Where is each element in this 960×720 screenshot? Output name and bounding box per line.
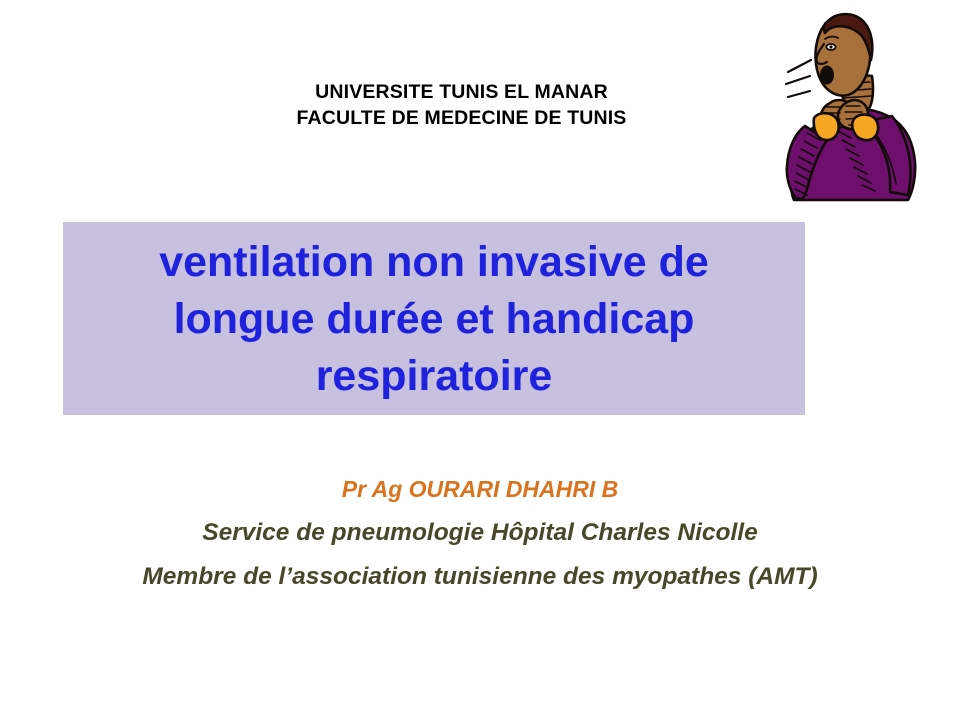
presenter-membership: Membre de l’association tunisienne des m…: [0, 565, 960, 590]
person-clutching-throat-icon: [780, 0, 960, 215]
title-line-3: respiratoire: [316, 348, 553, 405]
title-banner: ventilation non invasive de longue durée…: [63, 222, 805, 415]
author-block: Pr Ag OURARI DHAHRI B Service de pneumol…: [0, 478, 960, 589]
title-line-2: longue durée et handicap: [174, 291, 695, 348]
presenter-name: Pr Ag OURARI DHAHRI B: [0, 478, 960, 501]
presenter-affiliation: Service de pneumologie Hôpital Charles N…: [0, 521, 960, 546]
title-line-1: ventilation non invasive de: [159, 234, 709, 291]
presentation-slide: UNIVERSITE TUNIS EL MANAR FACULTE DE MED…: [0, 0, 960, 720]
